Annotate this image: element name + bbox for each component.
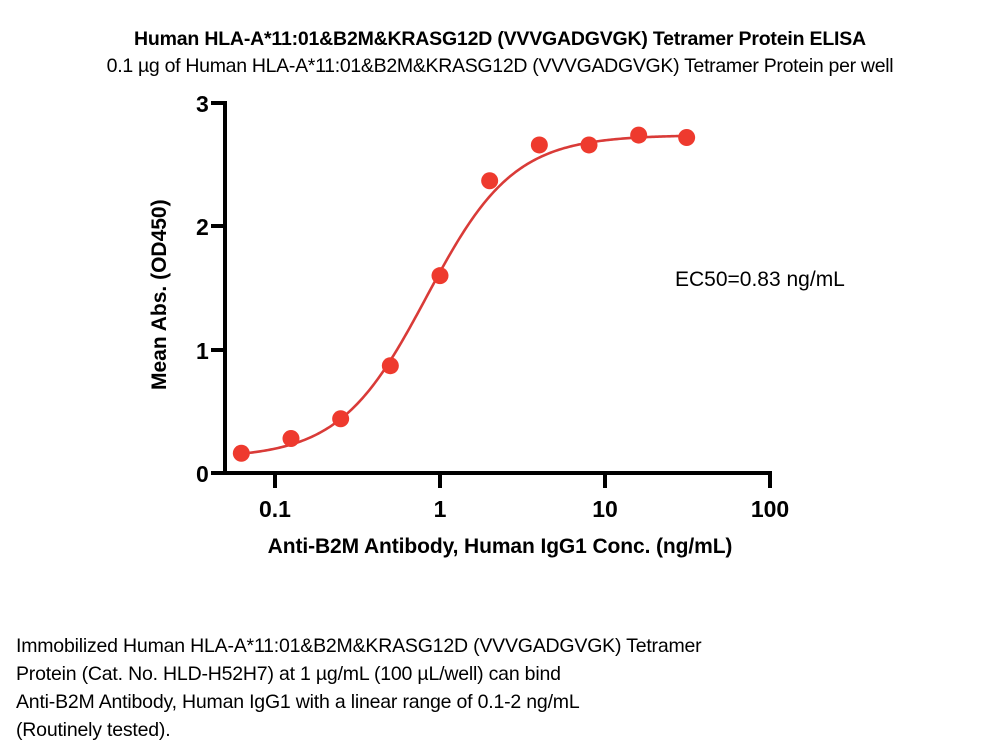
x-axis-ticks xyxy=(275,473,770,488)
data-point xyxy=(481,172,498,189)
y-axis-ticks xyxy=(211,103,225,473)
caption-line-2: Protein (Cat. No. HLD-H52H7) at 1 µg/mL … xyxy=(16,660,916,688)
data-point xyxy=(282,430,299,447)
data-point xyxy=(531,136,548,153)
data-points-group xyxy=(233,127,695,462)
data-point xyxy=(432,267,449,284)
x-tick-label-10: 10 xyxy=(580,498,630,521)
y-tick-label-0: 0 xyxy=(196,463,209,486)
x-tick-label-1: 1 xyxy=(415,498,465,521)
data-point xyxy=(678,129,695,146)
figure-caption: Immobilized Human HLA-A*11:01&B2M&KRASG1… xyxy=(16,632,916,744)
title-block: Human HLA-A*11:01&B2M&KRASG12D (VVVGADGV… xyxy=(0,26,1000,80)
x-axis-title: Anti-B2M Antibody, Human IgG1 Conc. (ng/… xyxy=(0,535,1000,559)
caption-line-3: Anti-B2M Antibody, Human IgG1 with a lin… xyxy=(16,688,916,716)
fit-curve xyxy=(236,136,693,454)
chart-subtitle: 0.1 µg of Human HLA-A*11:01&B2M&KRASG12D… xyxy=(0,52,1000,80)
data-point xyxy=(382,357,399,374)
y-tick-label-2: 2 xyxy=(196,216,209,239)
x-tick-label-100: 100 xyxy=(745,498,795,521)
data-point xyxy=(630,127,647,144)
data-point xyxy=(233,445,250,462)
y-tick-label-1: 1 xyxy=(196,340,209,363)
caption-line-4: (Routinely tested). xyxy=(16,716,916,744)
data-point xyxy=(332,410,349,427)
elisa-chart-figure: 3 2 1 0 0.1 1 10 100 Mean Abs. (OD450) A… xyxy=(0,90,1000,590)
data-point xyxy=(581,136,598,153)
caption-line-1: Immobilized Human HLA-A*11:01&B2M&KRASG1… xyxy=(16,632,916,660)
chart-title: Human HLA-A*11:01&B2M&KRASG12D (VVVGADGV… xyxy=(0,26,1000,52)
x-tick-label-0p1: 0.1 xyxy=(250,498,300,521)
y-tick-label-3: 3 xyxy=(196,93,209,116)
ec50-annotation: EC50=0.83 ng/mL xyxy=(675,268,845,292)
y-axis-title: Mean Abs. (OD450) xyxy=(148,199,172,390)
